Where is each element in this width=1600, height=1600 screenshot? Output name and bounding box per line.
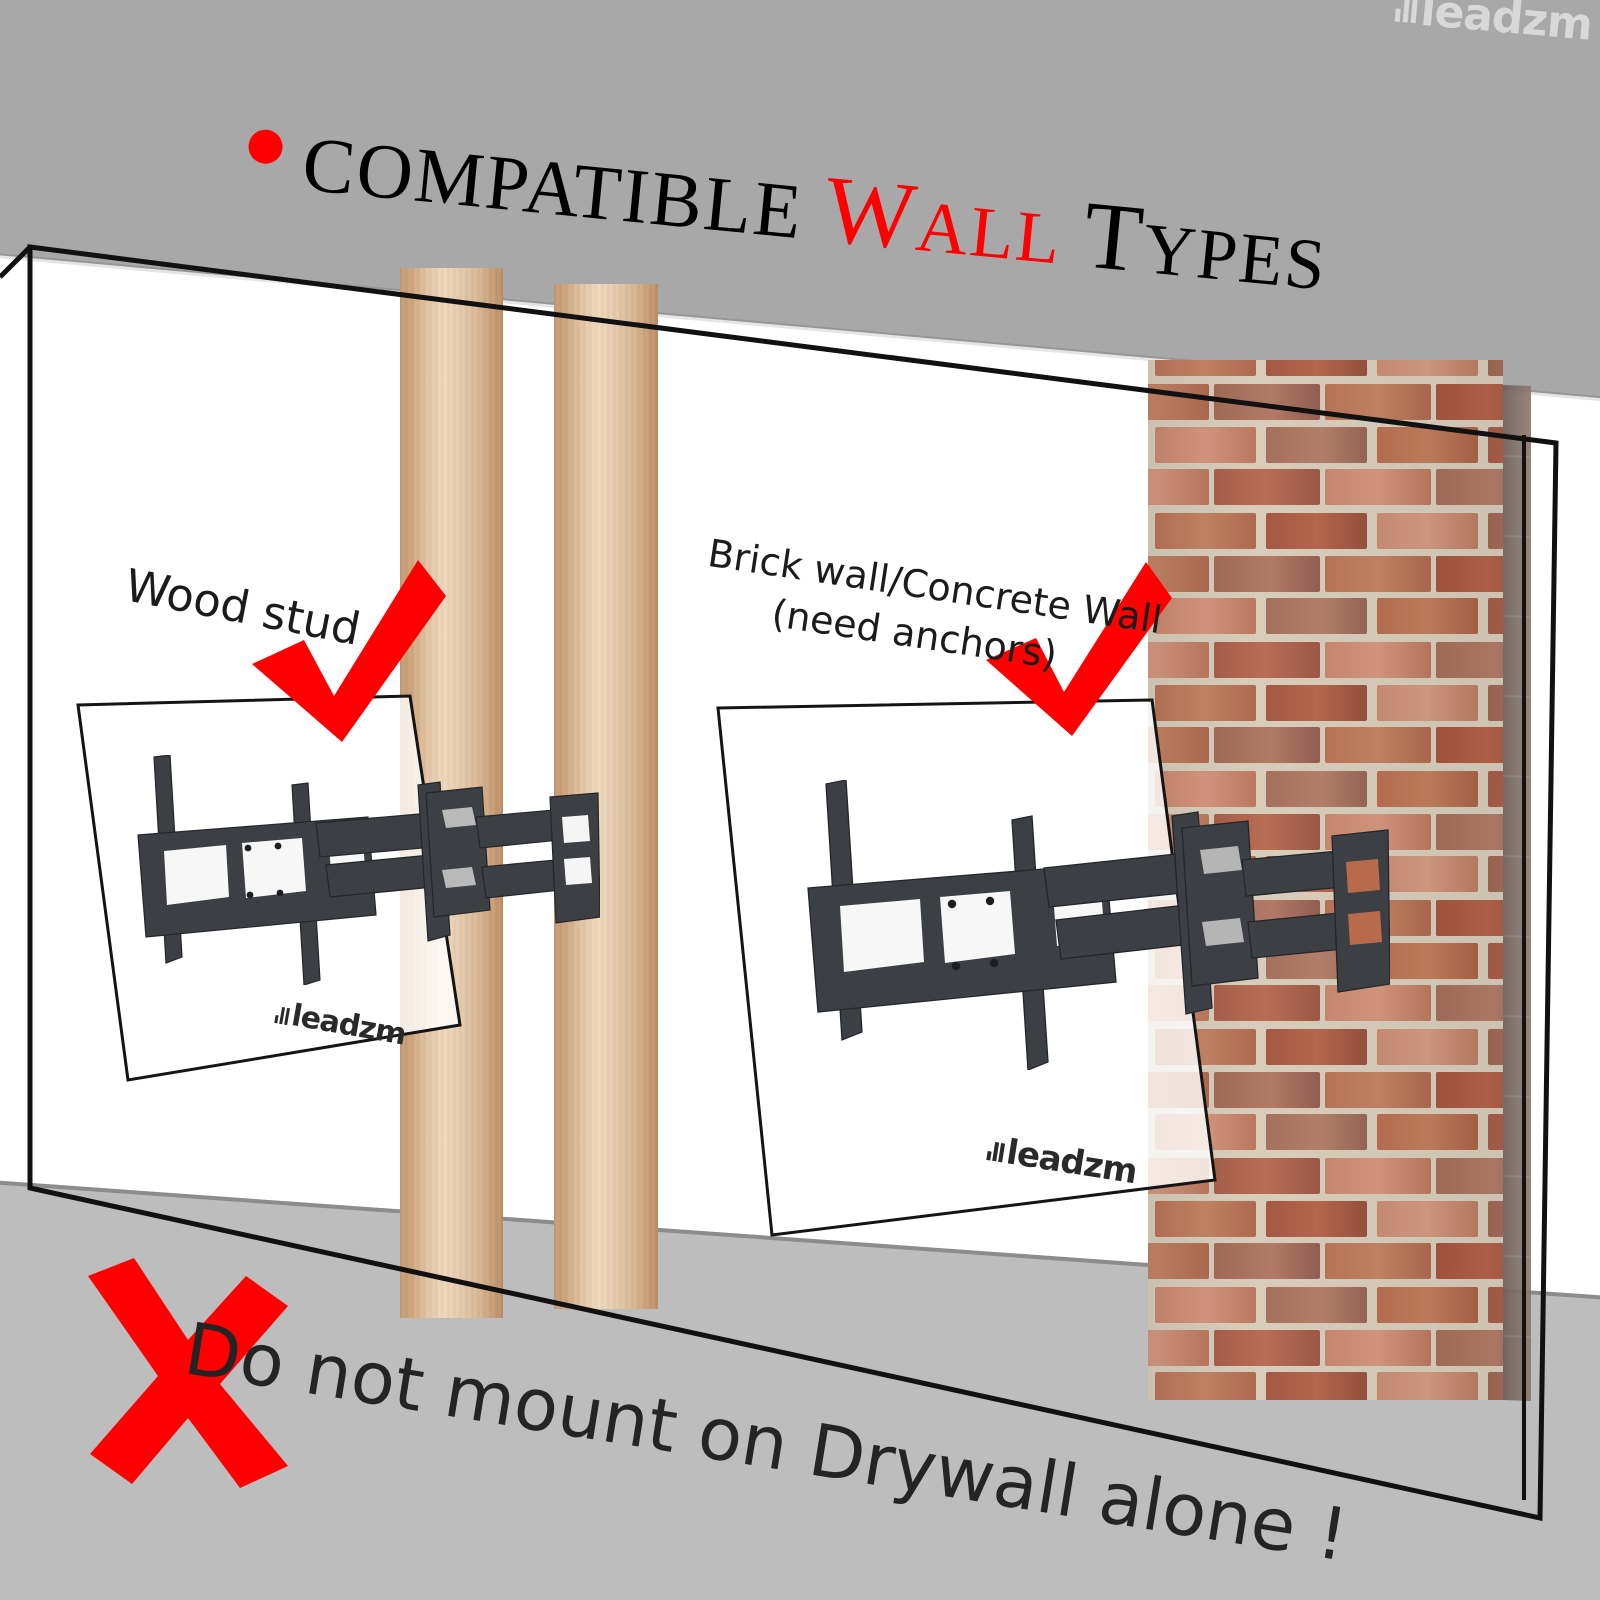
tv-mount-bracket-left [130,755,600,985]
product-infographic: leadzm COMPATIBLE WALL TYPES [0,0,1600,1600]
label-brick-wall: Brick wall/Concrete Wall (need anchors) [697,528,1165,695]
title-types-cap: T [1079,180,1150,292]
title-bullet-icon [247,128,284,165]
title-wall-cap: W [820,155,923,271]
title-types-rest: YPES [1140,208,1331,306]
title-wall-rest: ALL [913,186,1066,280]
tv-mount-bracket-right [800,780,1390,1070]
brand-logo-bars-icon [1395,0,1418,23]
brick-wall-side-face [1503,385,1531,1401]
